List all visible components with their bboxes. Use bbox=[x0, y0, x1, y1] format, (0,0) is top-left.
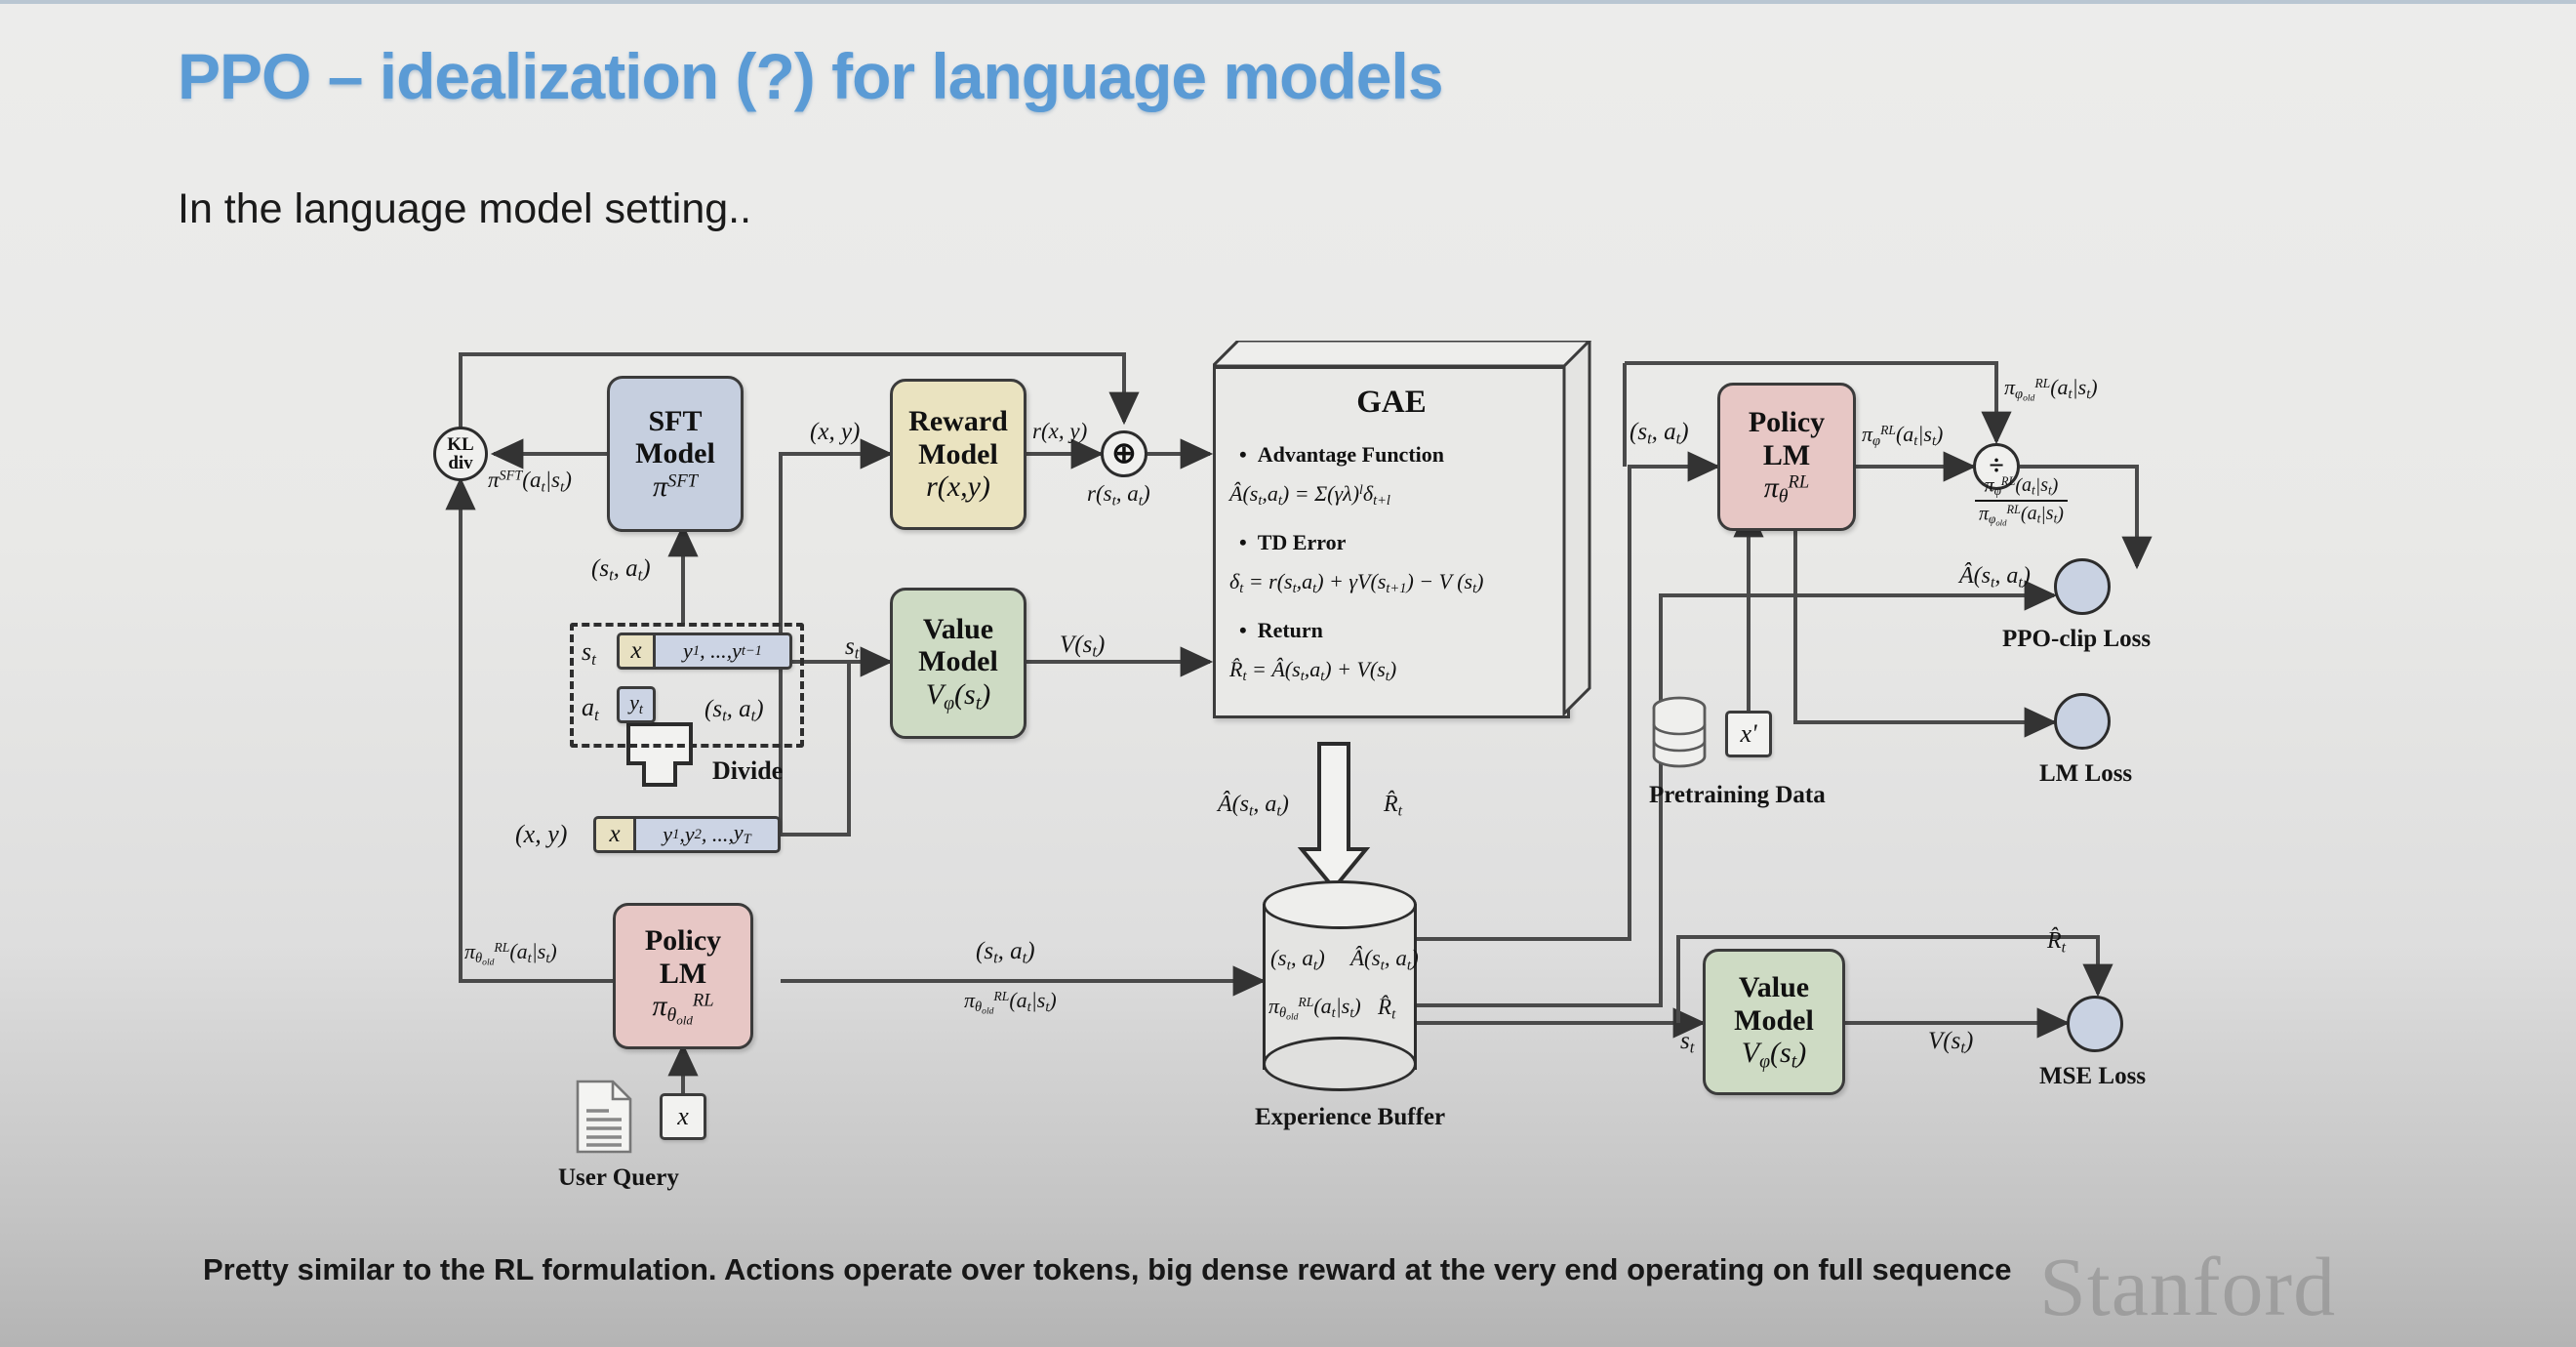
user-query-caption: User Query bbox=[558, 1163, 679, 1193]
edge-label-xy-reward: (x, y) bbox=[810, 418, 860, 447]
value-model-left-line3: Vφ(st) bbox=[926, 678, 990, 714]
full-row-label: (x, y) bbox=[515, 820, 567, 850]
edge-label-st-at-policy: (st, at) bbox=[1630, 418, 1689, 448]
edge-label-pi-theta-old-buffer: πθoldRL(at|st) bbox=[964, 988, 1057, 1017]
edge-label-r-xy: r(x, y) bbox=[1032, 418, 1087, 444]
action-y-token: yt bbox=[617, 686, 656, 723]
ppo-clip-loss-label: PPO-clip Loss bbox=[2002, 625, 2151, 654]
buffer-item-4: R̂t bbox=[1378, 994, 1395, 1023]
gae-box-3d-edges bbox=[1213, 341, 1593, 721]
divide-label: Divide bbox=[712, 756, 783, 787]
action-token-row[interactable]: yt bbox=[617, 686, 656, 723]
policy-lm-top-box[interactable]: Policy LM πθRL bbox=[1717, 383, 1856, 531]
kl-div-line1: KL bbox=[447, 434, 473, 455]
action-row-label: at bbox=[582, 693, 599, 725]
edge-label-pi-sft: πSFT(at|st) bbox=[488, 467, 572, 496]
gae-to-buffer-arrow bbox=[1302, 744, 1366, 888]
edge-label-st-value: st bbox=[845, 633, 859, 663]
pretraining-data-caption: Pretraining Data bbox=[1649, 781, 1826, 810]
edge-label-st-at-buffer: (st, at) bbox=[976, 937, 1035, 967]
edge-label-pi-theta-old-kl: πθoldRL(at|st) bbox=[464, 939, 557, 968]
slide-caption: Pretty similar to the RL formulation. Ac… bbox=[203, 1252, 2012, 1287]
value-model-right-line1: Value bbox=[1739, 971, 1809, 1004]
stanford-watermark: Stanford bbox=[2039, 1238, 2336, 1335]
buffer-item-2: Â(st, at) bbox=[1350, 945, 1419, 974]
lm-loss-node[interactable] bbox=[2054, 693, 2111, 750]
full-x-token: x bbox=[593, 816, 636, 853]
sft-model-line1: SFT bbox=[648, 405, 702, 438]
edge-label-ratio: πφRL(at|st) πφoldRL(at|st) bbox=[1975, 474, 2068, 528]
edge-label-st-value-right: st bbox=[1680, 1027, 1694, 1057]
full-y-token: y1, y2, ..., yT bbox=[636, 816, 781, 853]
value-model-right-line2: Model bbox=[1734, 1004, 1814, 1038]
policy-lm-bottom-box[interactable]: Policy LM πθoldRL bbox=[613, 903, 753, 1049]
edge-label-pi-phi-old-top: πφoldRL(at|st) bbox=[2004, 375, 2098, 404]
value-model-right-line3: Vφ(st) bbox=[1742, 1037, 1806, 1073]
experience-buffer-caption: Experience Buffer bbox=[1255, 1103, 1445, 1132]
value-model-right-box[interactable]: Value Model Vφ(st) bbox=[1703, 949, 1845, 1095]
edge-label-r-st-at: r(st, at) bbox=[1087, 480, 1150, 510]
sft-model-line2: Model bbox=[635, 437, 715, 470]
mse-loss-label: MSE Loss bbox=[2039, 1062, 2146, 1091]
sft-model-box[interactable]: SFT Model πSFT bbox=[607, 376, 744, 532]
plus-operator[interactable]: ⊕ bbox=[1101, 430, 1147, 477]
buffer-item-3: πθoldRL(at|st) bbox=[1268, 994, 1361, 1023]
edge-label-v-st-right: V(st) bbox=[1928, 1027, 1973, 1057]
pretraining-x-prime-token: x' bbox=[1725, 711, 1772, 757]
edge-label-a-hat-ppo: Â(st, at) bbox=[1959, 562, 2031, 592]
buffer-item-1: (st, at) bbox=[1270, 945, 1325, 974]
buffer-bottom-ellipse bbox=[1263, 1037, 1417, 1091]
kl-div-line2: div bbox=[448, 453, 472, 473]
state-row-label: st bbox=[582, 637, 596, 670]
reward-model-line3: r(x,y) bbox=[926, 470, 990, 504]
state-token-row[interactable]: x y1, ..., yt−1 bbox=[617, 633, 792, 670]
policy-lm-top-line2: LM bbox=[1763, 439, 1810, 472]
value-model-left-line1: Value bbox=[923, 613, 993, 646]
policy-lm-top-line1: Policy bbox=[1749, 406, 1825, 439]
policy-lm-bottom-line3: πθoldRL bbox=[652, 990, 713, 1028]
pretraining-database-icon bbox=[1649, 695, 1710, 773]
state-x-token: x bbox=[617, 633, 656, 670]
full-token-row[interactable]: x y1, y2, ..., yT bbox=[593, 816, 781, 853]
edge-label-a-hat-down: Â(st, at) bbox=[1218, 791, 1289, 821]
value-model-left-box[interactable]: Value Model Vφ(st) bbox=[890, 588, 1026, 739]
ppo-architecture-diagram: KL div SFT Model πSFT Reward Model r(x,y… bbox=[0, 0, 2576, 1347]
experience-buffer-cylinder[interactable] bbox=[1263, 880, 1417, 1095]
kl-div-node[interactable]: KL div bbox=[433, 427, 488, 481]
policy-lm-bottom-line1: Policy bbox=[645, 924, 721, 958]
value-model-left-line2: Model bbox=[918, 645, 998, 678]
state-y-token: y1, ..., yt−1 bbox=[656, 633, 792, 670]
reward-model-box[interactable]: Reward Model r(x,y) bbox=[890, 379, 1026, 530]
edge-label-st-at-sft: (st, at) bbox=[591, 554, 651, 585]
reward-model-line2: Model bbox=[918, 438, 998, 471]
plus-symbol: ⊕ bbox=[1111, 439, 1136, 469]
edge-label-r-hat-mse: R̂t bbox=[2047, 927, 2066, 958]
buffer-top-ellipse bbox=[1263, 880, 1417, 929]
edge-label-v-st-left: V(st) bbox=[1060, 631, 1105, 661]
policy-lm-top-line3: πθRL bbox=[1764, 471, 1809, 508]
edge-label-r-hat-down: R̂t bbox=[1384, 791, 1402, 821]
mse-loss-node[interactable] bbox=[2067, 996, 2123, 1052]
user-query-document-icon bbox=[574, 1079, 634, 1155]
sft-model-line3: πSFT bbox=[653, 470, 698, 504]
state-action-pair-label: (st, at) bbox=[704, 695, 764, 725]
edge-label-pi-phi: πφRL(at|st) bbox=[1862, 422, 1943, 450]
ppo-clip-loss-node[interactable] bbox=[2054, 558, 2111, 615]
user-query-x-token: x bbox=[660, 1093, 706, 1140]
reward-model-line1: Reward bbox=[908, 405, 1008, 438]
lm-loss-label: LM Loss bbox=[2039, 759, 2132, 789]
policy-lm-bottom-line2: LM bbox=[660, 958, 706, 991]
